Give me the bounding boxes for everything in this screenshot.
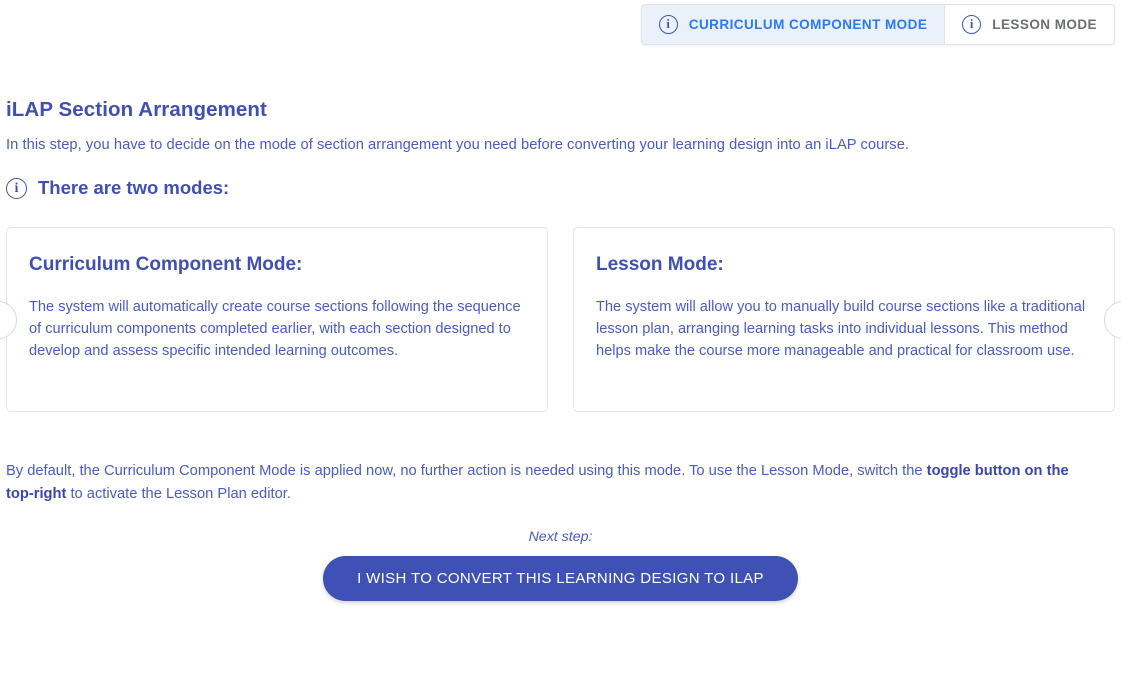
- mode-card-curriculum-component: Curriculum Component Mode: The system wi…: [6, 227, 548, 412]
- mode-toggle-group: i CURRICULUM COMPONENT MODE i LESSON MOD…: [641, 4, 1115, 45]
- mode-button-lesson[interactable]: i LESSON MODE: [944, 5, 1114, 44]
- modes-heading-label: There are two modes:: [38, 177, 229, 199]
- convert-to-ilap-button[interactable]: I WISH TO CONVERT THIS LEARNING DESIGN T…: [323, 556, 798, 601]
- page-title: iLAP Section Arrangement: [6, 98, 267, 122]
- mode-card-body: The system will automatically create cou…: [29, 296, 525, 363]
- mode-card-title: Curriculum Component Mode:: [29, 254, 525, 276]
- cta-container: I WISH TO CONVERT THIS LEARNING DESIGN T…: [0, 556, 1121, 601]
- info-icon: i: [962, 15, 981, 34]
- mode-button-lesson-label: LESSON MODE: [992, 17, 1097, 32]
- mode-button-curriculum-component-label: CURRICULUM COMPONENT MODE: [689, 17, 928, 32]
- mode-card-lesson: Lesson Mode: The system will allow you t…: [573, 227, 1115, 412]
- mode-button-curriculum-component[interactable]: i CURRICULUM COMPONENT MODE: [642, 5, 945, 44]
- note-text-part1: By default, the Curriculum Component Mod…: [6, 463, 927, 479]
- modes-carousel: Curriculum Component Mode: The system wi…: [0, 227, 1121, 412]
- default-mode-note: By default, the Curriculum Component Mod…: [6, 460, 1096, 507]
- next-step-label: Next step:: [0, 529, 1121, 545]
- mode-card-body: The system will allow you to manually bu…: [596, 296, 1092, 363]
- info-icon: i: [659, 15, 678, 34]
- mode-card-title: Lesson Mode:: [596, 254, 1092, 276]
- info-icon: i: [6, 178, 27, 199]
- modes-heading: i There are two modes:: [6, 177, 229, 199]
- page-subtitle: In this step, you have to decide on the …: [6, 137, 909, 153]
- note-text-part2: to activate the Lesson Plan editor.: [66, 486, 291, 502]
- page-root: i CURRICULUM COMPONENT MODE i LESSON MOD…: [0, 0, 1121, 682]
- modes-card-list: Curriculum Component Mode: The system wi…: [0, 227, 1121, 412]
